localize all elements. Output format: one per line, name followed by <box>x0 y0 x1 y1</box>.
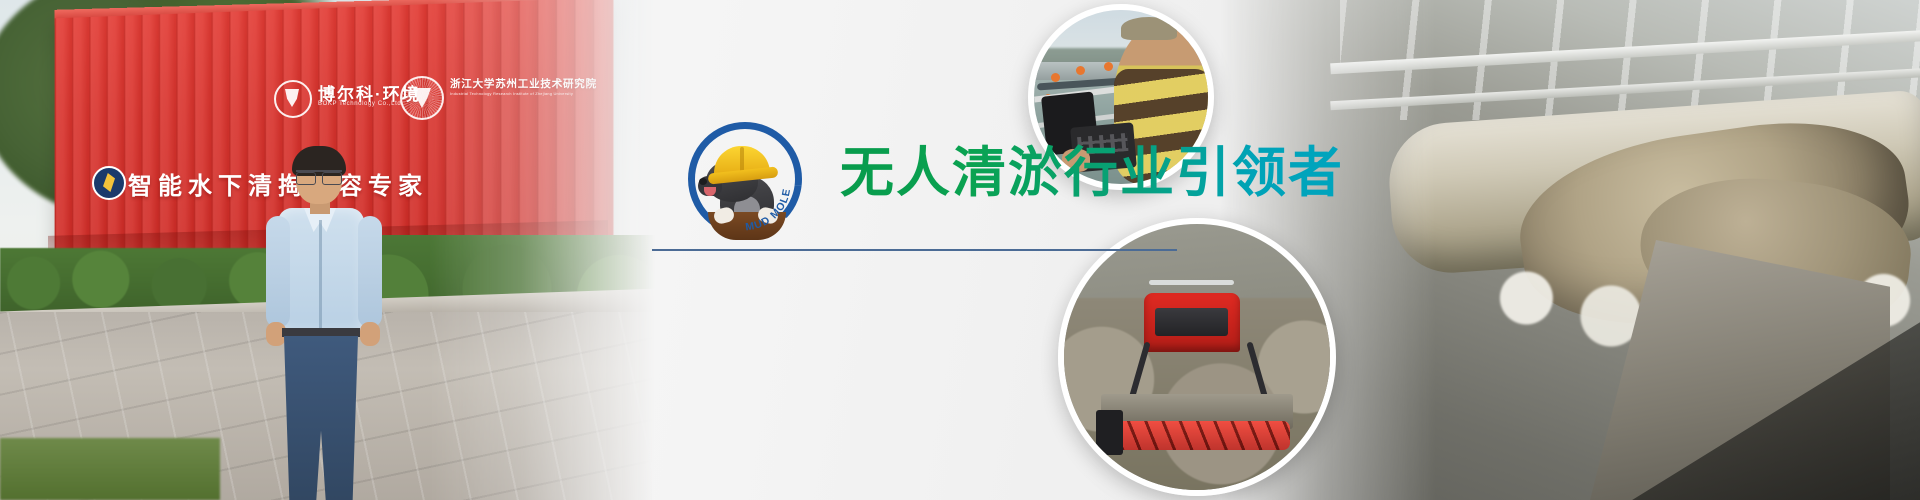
page-headline: 无人清淤行业引领者 <box>840 128 1344 207</box>
zju-seal-icon <box>400 76 444 120</box>
container-partner-cn: 浙江大学苏州工业技术研究院 <box>450 76 597 91</box>
glasses-icon <box>296 170 342 183</box>
bokp-logo-icon <box>274 80 312 118</box>
person-shirt-placket <box>319 220 322 328</box>
left-photo-red-container: 博尔科·环境 BOKP Technology Co.,Ltd 浙江大学苏州工业技… <box>0 0 660 500</box>
engineer-person <box>258 150 388 500</box>
hero-banner: 博尔科·环境 BOKP Technology Co.,Ltd 浙江大学苏州工业技… <box>0 0 1920 500</box>
person-hand-right <box>360 322 380 346</box>
headline-divider <box>652 249 1177 251</box>
person-arm-left <box>266 216 290 328</box>
container-brand-en: BOKP Technology Co.,Ltd <box>318 101 401 107</box>
slogan-badge-icon <box>92 166 126 200</box>
container-partner-en: Industrial Technology Research Institute… <box>450 91 573 96</box>
logo-arc-label: MUD MOLE <box>745 187 794 233</box>
center-content: MUD MOLE 无人清淤行业引领者 <box>640 0 1280 500</box>
person-belt <box>282 328 360 337</box>
person-trousers <box>284 336 358 500</box>
svg-text:MUD MOLE: MUD MOLE <box>745 187 794 233</box>
logo-arc-text: MUD MOLE <box>686 120 804 238</box>
grass-strip <box>0 438 220 500</box>
person-arm-right <box>358 216 382 328</box>
mud-mole-logo[interactable]: MUD MOLE <box>686 120 804 238</box>
